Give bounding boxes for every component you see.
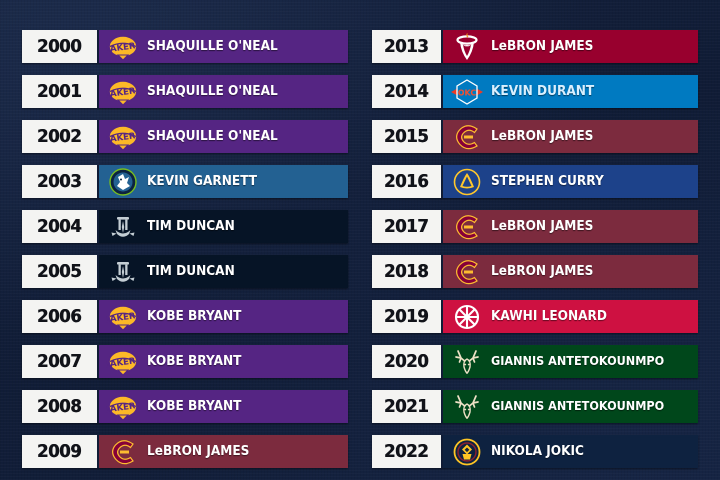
player-name: LeBRON JAMES: [491, 130, 593, 144]
timberwolves-logo-icon: [105, 167, 141, 196]
nuggets-logo-icon: [449, 437, 485, 466]
bucks-logo-icon: [449, 392, 485, 421]
lakers-logo-icon: LAKERS: [105, 347, 141, 376]
spurs-logo-icon: [105, 257, 141, 286]
mvp-row: 2019 KAWHI LEONARD: [372, 300, 698, 333]
year-label: 2018: [384, 261, 428, 282]
team-bar: LAKERS KOBE BRYANT: [99, 300, 348, 333]
player-name: LeBRON JAMES: [147, 445, 249, 459]
player-name: STEPHEN CURRY: [491, 175, 604, 189]
year-box: 2007: [22, 345, 99, 378]
cavaliers-logo-icon: [449, 257, 485, 286]
year-label: 2016: [384, 171, 428, 192]
mvp-row: 2008 LAKERS KOBE BRYANT: [22, 390, 348, 423]
team-bar: LAKERS KOBE BRYANT: [99, 345, 348, 378]
player-name: LeBRON JAMES: [491, 220, 593, 234]
team-bar: GIANNIS ANTETOKOUNMPO: [443, 345, 698, 378]
team-bar: KAWHI LEONARD: [443, 300, 698, 333]
mvp-row: 2004 TIM DUNCAN: [22, 210, 348, 243]
svg-text:OKC: OKC: [458, 88, 477, 97]
thunder-logo-icon: OKC: [449, 77, 485, 106]
mvp-row: 2016 STEPHEN CURRY: [372, 165, 698, 198]
bucks-logo-icon: [449, 347, 485, 376]
team-bar: LeBRON JAMES: [443, 30, 698, 63]
year-label: 2004: [37, 216, 81, 237]
team-bar: LAKERS KOBE BRYANT: [99, 390, 348, 423]
player-name: TIM DUNCAN: [147, 265, 235, 279]
team-bar: LeBRON JAMES: [443, 120, 698, 153]
player-name: KAWHI LEONARD: [491, 310, 607, 324]
year-label: 2005: [37, 261, 81, 282]
player-name: NIKOLA JOKIC: [491, 445, 584, 459]
team-bar: LeBRON JAMES: [443, 255, 698, 288]
lakers-logo-icon: LAKERS: [105, 302, 141, 331]
player-name: KOBE BRYANT: [147, 355, 241, 369]
cavaliers-logo-icon: [449, 122, 485, 151]
right-column: 2013 LeBRON JAMES2014 OKC KEVIN DURANT20…: [372, 30, 698, 480]
mvp-row: 2014 OKC KEVIN DURANT: [372, 75, 698, 108]
cavaliers-logo-icon: [105, 437, 141, 466]
player-name: SHAQUILLE O'NEAL: [147, 130, 278, 144]
year-label: 2019: [384, 306, 428, 327]
mvp-row: 2006 LAKERS KOBE BRYANT: [22, 300, 348, 333]
mvp-row: 2017 LeBRON JAMES: [372, 210, 698, 243]
year-label: 2007: [37, 351, 81, 372]
year-label: 2002: [37, 126, 81, 147]
year-box: 2013: [372, 30, 443, 63]
year-box: 2019: [372, 300, 443, 333]
lakers-logo-icon: LAKERS: [105, 32, 141, 61]
year-label: 2021: [384, 396, 428, 417]
lakers-logo-icon: LAKERS: [105, 392, 141, 421]
year-label: 2003: [37, 171, 81, 192]
spurs-logo-icon: [105, 212, 141, 241]
year-box: 2018: [372, 255, 443, 288]
year-label: 2022: [384, 441, 428, 462]
player-name: GIANNIS ANTETOKOUNMPO: [491, 400, 664, 413]
year-label: 2009: [37, 441, 81, 462]
lakers-logo-icon: LAKERS: [105, 122, 141, 151]
year-label: 2017: [384, 216, 428, 237]
left-column: 2000 LAKERS SHAQUILLE O'NEAL2001 LAKERS …: [22, 30, 348, 480]
year-label: 2015: [384, 126, 428, 147]
year-box: 2003: [22, 165, 99, 198]
mvp-row: 2021 GIANNIS ANTETOKOUNMPO: [372, 390, 698, 423]
team-bar: STEPHEN CURRY: [443, 165, 698, 198]
player-name: TIM DUNCAN: [147, 220, 235, 234]
lakers-logo-icon: LAKERS: [105, 77, 141, 106]
year-box: 2020: [372, 345, 443, 378]
team-bar: LAKERS SHAQUILLE O'NEAL: [99, 30, 348, 63]
mvp-row: 2001 LAKERS SHAQUILLE O'NEAL: [22, 75, 348, 108]
year-box: 2016: [372, 165, 443, 198]
player-name: KEVIN GARNETT: [147, 175, 257, 189]
team-bar: OKC KEVIN DURANT: [443, 75, 698, 108]
player-name: SHAQUILLE O'NEAL: [147, 85, 278, 99]
year-label: 2000: [37, 36, 81, 57]
team-bar: LeBRON JAMES: [443, 210, 698, 243]
player-name: LeBRON JAMES: [491, 265, 593, 279]
year-label: 2008: [37, 396, 81, 417]
player-name: KEVIN DURANT: [491, 85, 594, 99]
year-label: 2006: [37, 306, 81, 327]
year-box: 2017: [372, 210, 443, 243]
player-name: KOBE BRYANT: [147, 310, 241, 324]
poster-canvas: 2000 LAKERS SHAQUILLE O'NEAL2001 LAKERS …: [0, 0, 720, 480]
year-box: 2015: [372, 120, 443, 153]
player-name: SHAQUILLE O'NEAL: [147, 40, 278, 54]
mvp-row: 2020 GIANNIS ANTETOKOUNMPO: [372, 345, 698, 378]
heat-logo-icon: [449, 32, 485, 61]
year-box: 2022: [372, 435, 443, 468]
year-label: 2001: [37, 81, 81, 102]
year-label: 2013: [384, 36, 428, 57]
mvp-row: 2007 LAKERS KOBE BRYANT: [22, 345, 348, 378]
year-box: 2004: [22, 210, 99, 243]
mvp-row: 2015 LeBRON JAMES: [372, 120, 698, 153]
mvp-row: 2022 NIKOLA JOKIC: [372, 435, 698, 468]
mvp-row: 2002 LAKERS SHAQUILLE O'NEAL: [22, 120, 348, 153]
year-box: 2008: [22, 390, 99, 423]
year-label: 2014: [384, 81, 428, 102]
team-bar: KEVIN GARNETT: [99, 165, 348, 198]
year-box: 2002: [22, 120, 99, 153]
team-bar: LAKERS SHAQUILLE O'NEAL: [99, 75, 348, 108]
raptors-logo-icon: [449, 302, 485, 331]
mvp-row: 2013 LeBRON JAMES: [372, 30, 698, 63]
year-box: 2006: [22, 300, 99, 333]
team-bar: NIKOLA JOKIC: [443, 435, 698, 468]
year-box: 2001: [22, 75, 99, 108]
mvp-row: 2000 LAKERS SHAQUILLE O'NEAL: [22, 30, 348, 63]
mvp-row: 2003 KEVIN GARNETT: [22, 165, 348, 198]
player-name: KOBE BRYANT: [147, 400, 241, 414]
year-box: 2009: [22, 435, 99, 468]
team-bar: TIM DUNCAN: [99, 255, 348, 288]
team-bar: GIANNIS ANTETOKOUNMPO: [443, 390, 698, 423]
team-bar: TIM DUNCAN: [99, 210, 348, 243]
player-name: GIANNIS ANTETOKOUNMPO: [491, 355, 664, 368]
year-box: 2021: [372, 390, 443, 423]
year-label: 2020: [384, 351, 428, 372]
team-bar: LeBRON JAMES: [99, 435, 348, 468]
mvp-row: 2018 LeBRON JAMES: [372, 255, 698, 288]
year-box: 2000: [22, 30, 99, 63]
mvp-row: 2009 LeBRON JAMES: [22, 435, 348, 468]
warriors-logo-icon: [449, 167, 485, 196]
mvp-row: 2005 TIM DUNCAN: [22, 255, 348, 288]
team-bar: LAKERS SHAQUILLE O'NEAL: [99, 120, 348, 153]
year-box: 2005: [22, 255, 99, 288]
year-box: 2014: [372, 75, 443, 108]
cavaliers-logo-icon: [449, 212, 485, 241]
player-name: LeBRON JAMES: [491, 40, 593, 54]
